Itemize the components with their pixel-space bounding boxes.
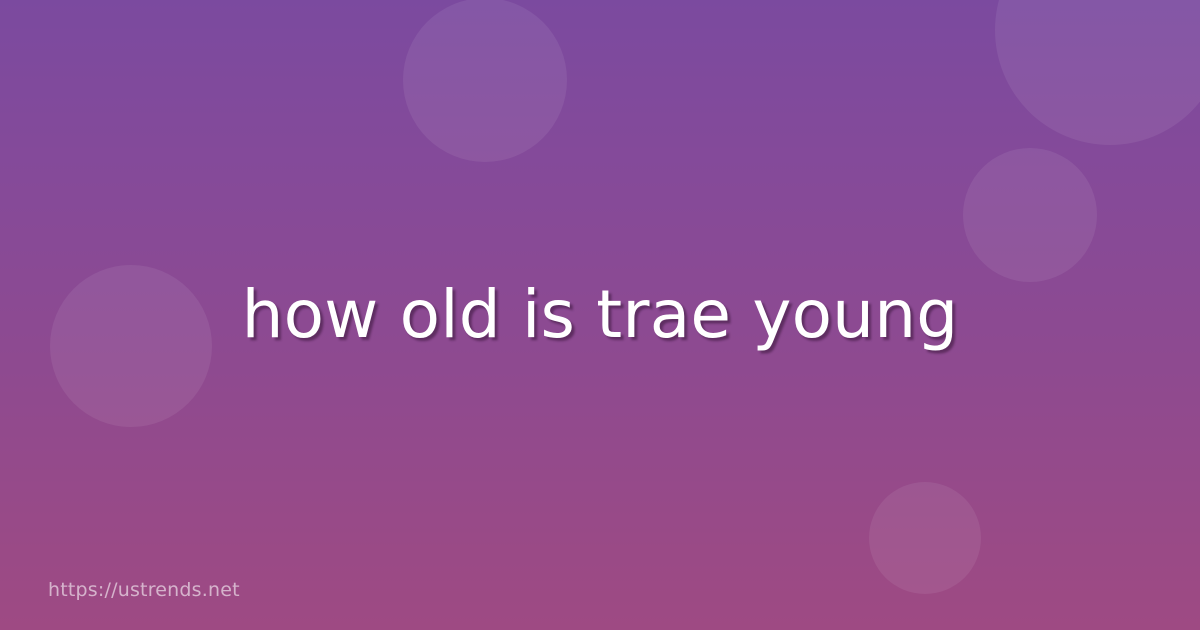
page-title: how old is trae young	[242, 276, 959, 354]
og-image-card: how old is trae young https://ustrends.n…	[0, 0, 1200, 630]
site-url-label: https://ustrends.net	[48, 581, 240, 600]
headline-container: how old is trae young	[0, 0, 1200, 630]
